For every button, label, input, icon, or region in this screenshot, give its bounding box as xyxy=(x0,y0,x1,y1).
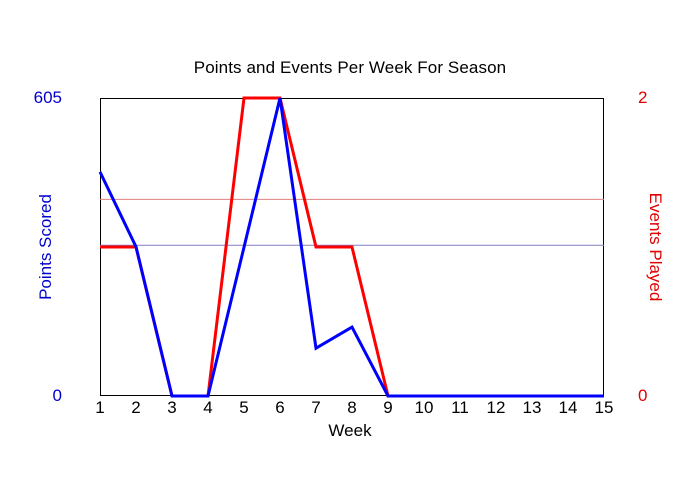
y-axis-left-tick-min: 0 xyxy=(53,386,62,406)
x-axis-tick-3: 3 xyxy=(157,398,187,418)
x-axis-tick-12: 12 xyxy=(481,398,511,418)
x-axis-tick-1: 1 xyxy=(85,398,115,418)
x-axis-tick-9: 9 xyxy=(373,398,403,418)
x-axis-tick-15: 15 xyxy=(589,398,619,418)
chart-container: Points and Events Per Week For Season 60… xyxy=(0,0,700,500)
plot-data-layer xyxy=(100,98,604,396)
x-axis-title: Week xyxy=(0,421,700,441)
y-axis-right-tick-min: 0 xyxy=(638,386,647,406)
x-axis-tick-13: 13 xyxy=(517,398,547,418)
x-axis-tick-10: 10 xyxy=(409,398,439,418)
x-axis-tick-4: 4 xyxy=(193,398,223,418)
y-axis-right-title: Events Played xyxy=(645,193,665,302)
x-axis-tick-5: 5 xyxy=(229,398,259,418)
y-axis-left-title: Points Scored xyxy=(36,194,56,300)
x-axis-tick-8: 8 xyxy=(337,398,367,418)
x-axis-tick-7: 7 xyxy=(301,398,331,418)
x-axis-tick-14: 14 xyxy=(553,398,583,418)
x-axis-tick-11: 11 xyxy=(445,398,475,418)
events-played-line xyxy=(100,98,604,396)
y-axis-right-tick-max: 2 xyxy=(638,88,647,108)
x-axis-tick-2: 2 xyxy=(121,398,151,418)
y-axis-left-tick-max: 605 xyxy=(34,88,62,108)
x-axis-tick-6: 6 xyxy=(265,398,295,418)
chart-title: Points and Events Per Week For Season xyxy=(0,58,700,78)
